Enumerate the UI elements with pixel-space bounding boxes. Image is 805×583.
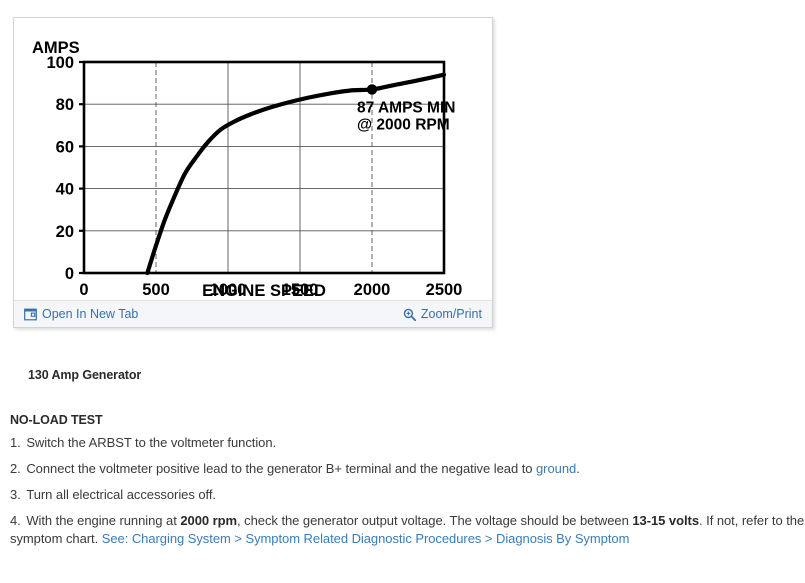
open-in-new-tab-button[interactable]: Open In New Tab bbox=[24, 308, 138, 321]
svg-text:2000: 2000 bbox=[354, 281, 391, 299]
svg-text:0: 0 bbox=[79, 281, 88, 299]
svg-text:20: 20 bbox=[56, 223, 74, 241]
procedure-step: 1. Switch the ARBST to the voltmeter fun… bbox=[10, 434, 805, 453]
chart-x-axis-title: ENGINE SPEED bbox=[202, 282, 326, 300]
svg-text:2500: 2500 bbox=[426, 281, 463, 299]
step-text: With the engine running at bbox=[26, 513, 180, 528]
step-number: 4. bbox=[10, 513, 24, 528]
section-heading: NO-LOAD TEST bbox=[10, 413, 805, 427]
svg-text:100: 100 bbox=[46, 54, 74, 72]
procedure-step: 4. With the engine running at 2000 rpm, … bbox=[10, 512, 805, 550]
zoom-print-button[interactable]: Zoom/Print bbox=[403, 308, 482, 321]
svg-text:40: 40 bbox=[56, 181, 74, 199]
inline-link[interactable]: See: Charging System > Symptom Related D… bbox=[102, 531, 630, 546]
step-number: 3. bbox=[10, 487, 24, 502]
procedure-step-list: 1. Switch the ARBST to the voltmeter fun… bbox=[0, 434, 805, 549]
step-text: . bbox=[576, 461, 580, 476]
emphasized-value: 2000 rpm bbox=[180, 513, 237, 528]
step-text: Connect the voltmeter positive lead to t… bbox=[26, 461, 536, 476]
document-body: 130 Amp Generator NO-LOAD TEST 1. Switch… bbox=[0, 340, 805, 549]
emphasized-value: 13-15 volts bbox=[632, 513, 699, 528]
svg-text:80: 80 bbox=[56, 96, 74, 114]
step-number: 1. bbox=[10, 435, 24, 450]
step-text: , check the generator output voltage. Th… bbox=[237, 513, 632, 528]
open-in-new-tab-icon bbox=[24, 308, 37, 321]
step-text: Turn all electrical accessories off. bbox=[26, 487, 216, 502]
svg-text:60: 60 bbox=[56, 138, 74, 156]
magnifier-icon bbox=[403, 308, 416, 321]
chart-marker-point bbox=[367, 84, 377, 94]
figure-card: AMPS 020406080100 05001000150020002500 8… bbox=[13, 17, 493, 328]
chart-annotation-line1: 87 AMPS MIN bbox=[357, 99, 455, 116]
chart-image[interactable]: AMPS 020406080100 05001000150020002500 8… bbox=[14, 18, 492, 301]
generator-output-chart: AMPS 020406080100 05001000150020002500 8… bbox=[14, 18, 492, 301]
inline-link[interactable]: ground bbox=[536, 461, 576, 476]
svg-text:500: 500 bbox=[142, 281, 170, 299]
procedure-step: 3. Turn all electrical accessories off. bbox=[10, 486, 805, 505]
zoom-print-label: Zoom/Print bbox=[421, 308, 482, 321]
figure-toolbar: Open In New Tab Zoom/Print bbox=[14, 300, 492, 327]
open-in-new-tab-label: Open In New Tab bbox=[42, 308, 138, 321]
figure-caption: 130 Amp Generator bbox=[28, 340, 805, 382]
svg-text:0: 0 bbox=[65, 265, 74, 283]
step-text: Switch the ARBST to the voltmeter functi… bbox=[26, 435, 276, 450]
procedure-step: 2. Connect the voltmeter positive lead t… bbox=[10, 460, 805, 479]
chart-annotation-line2: @ 2000 RPM bbox=[357, 116, 450, 133]
step-number: 2. bbox=[10, 461, 24, 476]
